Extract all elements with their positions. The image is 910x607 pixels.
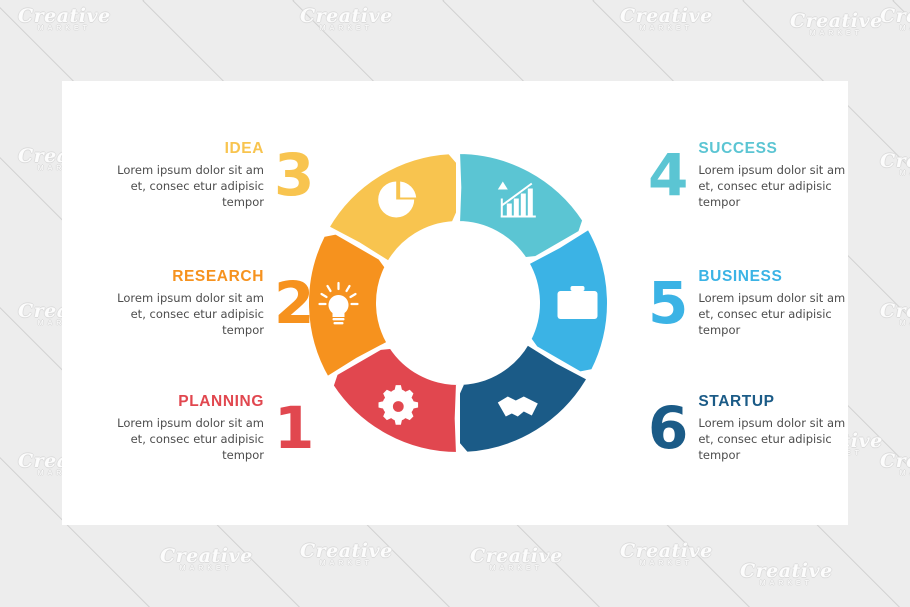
watermark-text: CreativeMARKET (300, 540, 393, 567)
step-title-planning: PLANNING (104, 393, 264, 412)
watermark-text: CreativeMARKET (880, 150, 910, 177)
step-title-business: BUSINESS (698, 268, 858, 287)
step-text-startup: STARTUP Lorem ipsum dolor sit am et, con… (698, 393, 858, 464)
step-desc-startup: Lorem ipsum dolor sit am et, consec etur… (698, 415, 858, 464)
step-desc-research: Lorem ipsum dolor sit am et, consec etur… (104, 290, 264, 339)
step-number-planning: 1 (274, 402, 314, 455)
watermark-text: CreativeMARKET (620, 5, 713, 32)
watermark-diagonal (593, 0, 910, 1)
watermark-diagonal (143, 0, 910, 1)
step-desc-idea: Lorem ipsum dolor sit am et, consec etur… (104, 162, 264, 211)
watermark-diagonal (0, 0, 317, 1)
watermark-text: CreativeMARKET (470, 545, 563, 572)
step-text-idea: IDEA Lorem ipsum dolor sit am et, consec… (104, 140, 264, 211)
watermark-diagonal (893, 0, 910, 1)
step-number-idea: 3 (274, 149, 314, 202)
step-block-success[interactable]: 4 SUCCESS Lorem ipsum dolor sit am et, c… (648, 140, 858, 211)
watermark-text: CreativeMARKET (880, 5, 910, 32)
watermark-text: CreativeMARKET (160, 545, 253, 572)
step-title-startup: STARTUP (698, 393, 858, 412)
watermark-diagonal (0, 0, 617, 1)
step-number-success: 4 (648, 149, 688, 202)
watermark-diagonal (443, 0, 910, 1)
watermark-text: CreativeMARKET (300, 5, 393, 32)
step-block-business[interactable]: 5 BUSINESS Lorem ipsum dolor sit am et, … (648, 268, 858, 339)
step-text-planning: PLANNING Lorem ipsum dolor sit am et, co… (104, 393, 264, 464)
step-block-startup[interactable]: 6 STARTUP Lorem ipsum dolor sit am et, c… (648, 393, 858, 464)
step-block-idea[interactable]: IDEA Lorem ipsum dolor sit am et, consec… (104, 140, 314, 211)
watermark-text: CreativeMARKET (880, 450, 910, 477)
step-text-business: BUSINESS Lorem ipsum dolor sit am et, co… (698, 268, 858, 339)
donut-center-hole (381, 226, 535, 380)
step-desc-success: Lorem ipsum dolor sit am et, consec etur… (698, 162, 858, 211)
step-block-research[interactable]: RESEARCH Lorem ipsum dolor sit am et, co… (104, 268, 314, 339)
watermark-diagonal (0, 0, 167, 1)
step-number-business: 5 (648, 277, 688, 330)
step-title-idea: IDEA (104, 140, 264, 159)
cycle-donut-diagram (305, 150, 611, 456)
step-number-research: 2 (274, 277, 314, 330)
donut-svg (305, 150, 611, 456)
step-title-success: SUCCESS (698, 140, 858, 159)
watermark-text: CreativeMARKET (790, 10, 883, 37)
step-title-research: RESEARCH (104, 268, 264, 287)
step-text-research: RESEARCH Lorem ipsum dolor sit am et, co… (104, 268, 264, 339)
watermark-diagonal (892, 0, 910, 607)
watermark-text: CreativeMARKET (18, 5, 111, 32)
watermark-diagonal (743, 0, 910, 1)
watermark-diagonal (0, 0, 467, 1)
watermark-diagonal (0, 0, 767, 1)
watermark-text: CreativeMARKET (620, 540, 713, 567)
watermark-text: CreativeMARKET (880, 300, 910, 327)
watermark-diagonal (293, 0, 910, 1)
step-desc-planning: Lorem ipsum dolor sit am et, consec etur… (104, 415, 264, 464)
step-text-success: SUCCESS Lorem ipsum dolor sit am et, con… (698, 140, 858, 211)
step-block-planning[interactable]: PLANNING Lorem ipsum dolor sit am et, co… (104, 393, 314, 464)
step-number-startup: 6 (648, 402, 688, 455)
step-desc-business: Lorem ipsum dolor sit am et, consec etur… (698, 290, 858, 339)
watermark-text: CreativeMARKET (740, 560, 833, 587)
